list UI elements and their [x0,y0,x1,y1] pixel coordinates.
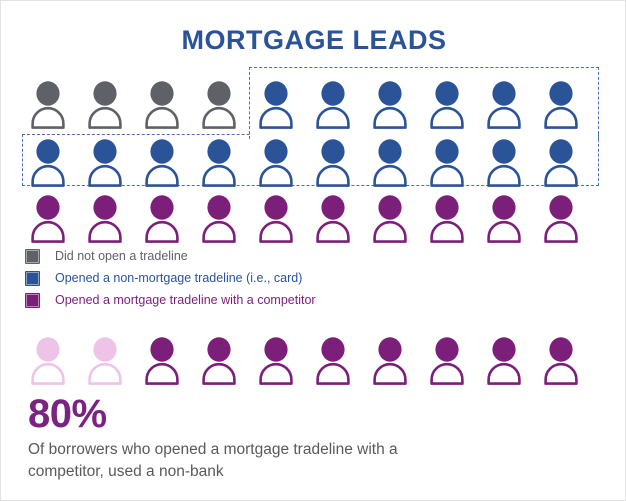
legend-item: Did not open a tradeline [25,245,316,267]
stat-caption: Of borrowers who opened a mortgage trade… [28,439,448,483]
square-swatch-blue-icon [25,271,40,286]
person-figure-icon [428,335,466,387]
person-figure-icon [314,335,352,387]
infographic-canvas: MORTGAGE LEADS Did not open a tradeline … [0,0,626,501]
person-figure-icon [143,335,181,387]
person-figure-icon [542,79,580,131]
person-figure-icon [257,193,295,245]
person-figure-icon [485,79,523,131]
person-figure-icon [143,193,181,245]
stat-value: 80% [28,393,107,435]
legend-item-label: Did not open a tradeline [55,249,188,263]
person-figure-icon [428,137,466,189]
person-figure-icon [542,137,580,189]
square-swatch-purple-icon [25,293,40,308]
person-figure-icon [257,137,295,189]
person-figure-icon [200,193,238,245]
legend-item: Opened a non-mortgage tradeline (i.e., c… [25,267,316,289]
person-figure-icon [200,137,238,189]
person-figure-icon [314,137,352,189]
person-figure-icon [428,193,466,245]
person-figure-icon [314,193,352,245]
person-figure-icon [143,137,181,189]
square-swatch-gray-icon [25,249,40,264]
highlight-box-seam [250,133,598,136]
person-figure-icon [314,79,352,131]
person-figure-icon [200,79,238,131]
person-figure-icon [542,335,580,387]
person-figure-icon [29,335,67,387]
person-figure-icon [371,137,409,189]
person-figure-icon [371,193,409,245]
person-figure-icon [428,79,466,131]
person-figure-icon [29,79,67,131]
page-title: MORTGAGE LEADS [1,25,626,56]
person-figure-icon [86,79,124,131]
person-figure-icon [200,335,238,387]
legend-item-label: Opened a mortgage tradeline with a compe… [55,293,316,307]
person-figure-icon [371,79,409,131]
person-figure-icon [86,335,124,387]
person-figure-icon [257,79,295,131]
legend-item: Opened a mortgage tradeline with a compe… [25,289,316,311]
person-figure-icon [485,335,523,387]
person-figure-icon [542,193,580,245]
person-figure-icon [485,193,523,245]
legend: Did not open a tradeline Opened a non-mo… [25,245,316,311]
person-figure-icon [29,137,67,189]
person-figure-icon [257,335,295,387]
person-figure-icon [29,193,67,245]
person-figure-icon [485,137,523,189]
person-figure-icon [143,79,181,131]
person-figure-icon [371,335,409,387]
person-figure-icon [86,137,124,189]
legend-item-label: Opened a non-mortgage tradeline (i.e., c… [55,271,302,285]
person-figure-icon [86,193,124,245]
